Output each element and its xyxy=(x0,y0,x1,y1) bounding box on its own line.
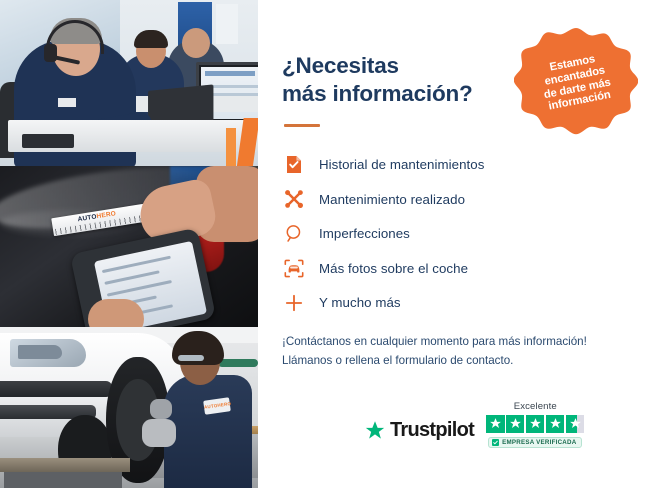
feature-item-mantenimiento: Mantenimiento realizado xyxy=(282,183,624,215)
car-scan-icon xyxy=(282,257,306,279)
star-filled xyxy=(506,415,524,433)
mechanic-forearm-decor xyxy=(150,399,172,419)
star-filled xyxy=(486,415,504,433)
feature-list: Historial de mantenimientos M xyxy=(282,149,624,319)
verified-label: EMPRESA VERIFICADA xyxy=(502,439,576,446)
tablet-line-decor xyxy=(107,280,172,297)
lift-arm-decor xyxy=(0,458,130,472)
mechanic-glove-decor xyxy=(142,419,176,447)
trustpilot-logo[interactable]: Trustpilot xyxy=(364,419,474,448)
feature-label: Historial de mantenimientos xyxy=(319,157,484,172)
page-title-line-2: más información? xyxy=(282,81,473,106)
verified-check-icon xyxy=(492,439,499,446)
background-head-3 xyxy=(182,28,210,58)
mechanic-body xyxy=(164,375,252,488)
feature-item-fotos: Más fotos sobre el coche xyxy=(282,252,624,284)
photo-column: AUTOHERO xyxy=(0,0,258,488)
headlight-decor xyxy=(10,339,86,367)
page-title: ¿Necesitas más información? xyxy=(282,52,512,108)
trustpilot-block[interactable]: Trustpilot Excelente EMPRESA VERIFICADA xyxy=(364,401,584,448)
page-title-line-1: ¿Necesitas xyxy=(282,53,399,78)
verified-badge: EMPRESA VERIFICADA xyxy=(488,437,582,448)
tablet-line-decor xyxy=(104,270,159,285)
trustpilot-rating: Excelente EMPRESA VERIFICADA xyxy=(486,401,584,448)
promo-card: AUTOHERO xyxy=(0,0,650,488)
feature-label: Y mucho más xyxy=(319,295,401,310)
feature-label: Mantenimiento realizado xyxy=(319,192,465,207)
star-rating xyxy=(486,415,584,433)
trustpilot-wordmark: Trustpilot xyxy=(390,419,474,442)
badge-content: Estamos encantados de darte más informac… xyxy=(503,9,648,154)
contact-line-1: ¡Contáctanos en cualquier momento para m… xyxy=(282,335,587,348)
lift-base-decor xyxy=(4,472,122,488)
document-check-icon xyxy=(282,154,306,176)
hose-decor xyxy=(218,359,258,367)
agent-name-badge-decor xyxy=(58,98,76,107)
feature-item-imperfecciones: Imperfecciones xyxy=(282,218,624,250)
plus-icon xyxy=(282,292,306,314)
contact-line-2: Llámanos o rellena el formulario de cont… xyxy=(282,354,513,367)
star-filled xyxy=(546,415,564,433)
contact-text: ¡Contáctanos en cualquier momento para m… xyxy=(282,333,624,371)
feature-item-historial: Historial de mantenimientos xyxy=(282,149,624,181)
car-inspection-ruler-photo: AUTOHERO xyxy=(0,166,258,327)
poster-secondary-decor xyxy=(216,4,238,44)
promo-starburst-badge: Estamos encantados de darte más informac… xyxy=(514,20,638,144)
rating-label: Excelente xyxy=(514,401,557,412)
tablet-line-decor xyxy=(102,256,171,273)
tools-cross-icon xyxy=(282,188,306,210)
headlight-inner-decor xyxy=(18,345,62,359)
tablet-decor xyxy=(22,134,74,148)
monitor-toolbar-decor xyxy=(205,71,255,76)
trustpilot-star-icon xyxy=(364,420,386,442)
feature-item-mas: Y mucho más xyxy=(282,287,624,319)
magnifier-icon xyxy=(282,223,306,245)
background-hair-2 xyxy=(134,30,168,48)
star-filled xyxy=(526,415,544,433)
feature-label: Imperfecciones xyxy=(319,226,410,241)
inspector-hand-lower-decor xyxy=(88,299,144,327)
orange-equipment-decor xyxy=(226,128,236,166)
grille-decor xyxy=(0,381,112,397)
title-divider xyxy=(284,124,320,127)
star-partial xyxy=(566,415,584,433)
mechanic-wheel-photo: AUTOHERO xyxy=(0,327,258,488)
call-center-agents-photo xyxy=(0,0,258,166)
feature-label: Más fotos sobre el coche xyxy=(319,261,468,276)
content-panel: ¿Necesitas más información? Historial de… xyxy=(258,0,650,488)
safety-glasses-decor xyxy=(178,355,204,361)
